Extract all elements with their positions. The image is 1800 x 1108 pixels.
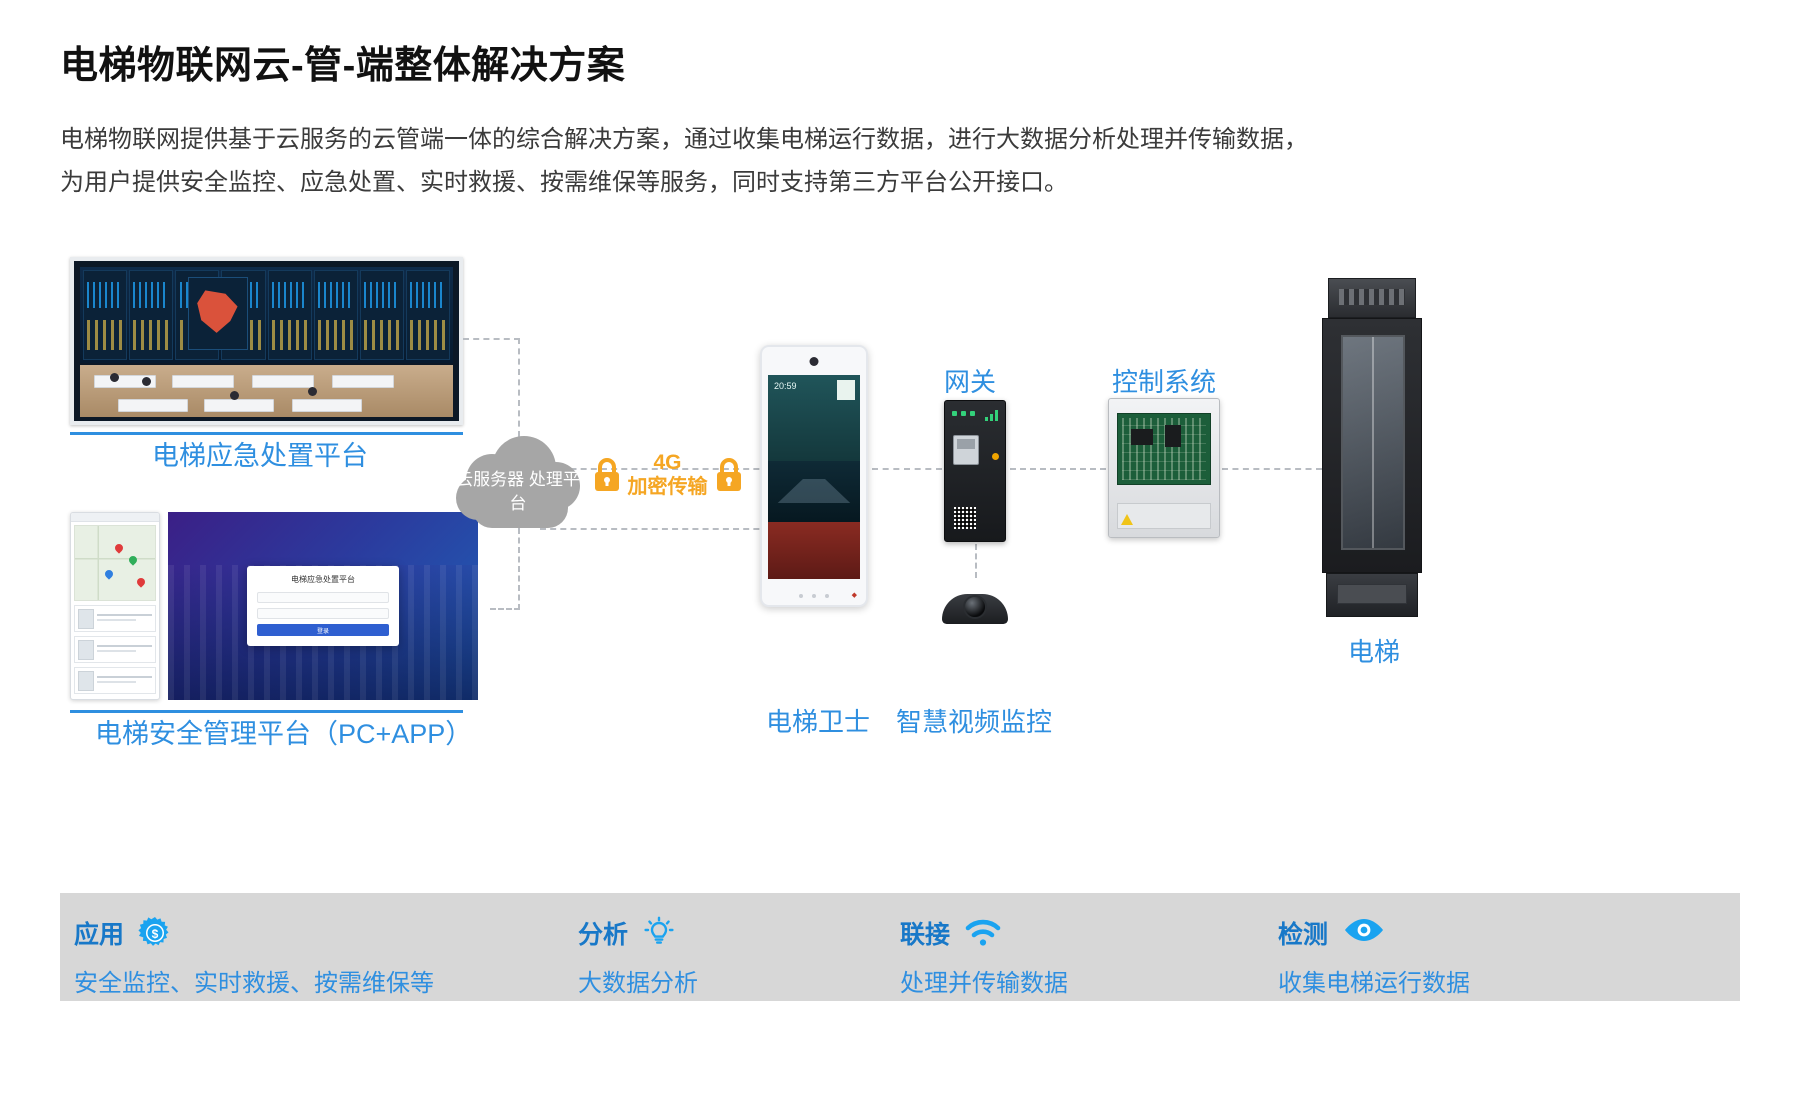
app-device-list: [74, 605, 156, 694]
elevator-guard-device: 20:59 ◆: [760, 345, 868, 607]
password-field[interactable]: [257, 608, 389, 619]
transmission-label: 4G 加密传输: [628, 451, 708, 498]
capability-subtitle: 收集电梯运行数据: [1278, 963, 1470, 998]
capability-bar: 应用 $ 安全监控、实时救援、按需维保等 分析: [60, 893, 1740, 1001]
video-camera-device: [942, 578, 1008, 624]
list-item: [74, 636, 156, 663]
camera-lens: [963, 595, 987, 619]
status-leds: [952, 411, 975, 416]
page-description-line-1: 电梯物联网提供基于云服务的云管端一体的综合解决方案，通过收集电梯运行数据，进行大…: [60, 118, 1750, 161]
eye-icon: [1342, 916, 1386, 950]
connector-guard-to-gateway: [872, 468, 942, 470]
mobile-app-screenshot: [70, 512, 160, 700]
signal-bars-icon: [985, 409, 998, 421]
list-item: [74, 667, 156, 694]
circuit-board: [1117, 413, 1211, 485]
guard-time: 20:59: [774, 381, 797, 391]
elevator-car: [1322, 318, 1422, 573]
lock-icon: [592, 457, 622, 493]
device-label-control: 控制系统: [1112, 362, 1216, 399]
page-description-line-2: 为用户提供安全监控、应急处置、实时救援、按需维保等服务，同时支持第三方平台公开接…: [60, 161, 1750, 204]
page-description: 电梯物联网提供基于云服务的云管端一体的综合解决方案，通过收集电梯运行数据，进行大…: [60, 118, 1750, 204]
capability-connection: 联接 处理并传输数据: [900, 915, 1068, 998]
app-map-view: [74, 525, 156, 601]
device-label-elevator: 电梯: [1348, 632, 1400, 669]
capability-title: 联接: [900, 915, 950, 951]
device-label-gateway: 网关: [944, 362, 996, 399]
capability-title: 应用: [74, 915, 124, 951]
pc-platform-screenshot: 电梯应急处置平台 登录: [168, 512, 478, 700]
capability-title: 检测: [1278, 915, 1328, 951]
cloud-label-line-1: 云服务器: [456, 470, 524, 489]
svg-text:$: $: [152, 927, 159, 941]
connector-gateway-to-control: [1010, 468, 1106, 470]
login-card-title: 电梯应急处置平台: [257, 574, 389, 585]
device-label-camera: 智慧视频监控: [896, 702, 1052, 739]
transmission-tech: 4G: [628, 451, 708, 475]
ethernet-port: [953, 435, 979, 465]
camera-icon: [810, 357, 819, 366]
capability-subtitle: 大数据分析: [578, 963, 698, 998]
capability-analysis: 分析: [578, 915, 698, 998]
device-nameplate: [1117, 503, 1211, 529]
elevator-glass-door: [1341, 335, 1405, 550]
lightbulb-icon: [642, 916, 676, 950]
brand-logo: ◆: [852, 591, 857, 599]
guard-screen: 20:59: [768, 375, 860, 579]
control-room-floor: [80, 365, 453, 417]
elevator-machine-room: [1328, 278, 1416, 318]
control-system-device: [1108, 398, 1220, 538]
power-indicator: [992, 453, 999, 460]
capability-subtitle: 安全监控、实时救援、按需维保等: [74, 963, 434, 998]
connector-gateway-to-camera: [975, 544, 977, 578]
wifi-icon: [964, 916, 998, 950]
cloud-server-node: 云服务器 处理平台: [452, 432, 584, 542]
lock-icon: [714, 457, 744, 493]
gateway-device: [944, 400, 1006, 542]
login-card: 电梯应急处置平台 登录: [247, 566, 399, 646]
page-title: 电梯物联网云-管-端整体解决方案: [60, 34, 625, 89]
money-gear-icon: $: [138, 916, 172, 950]
capability-application: 应用 $ 安全监控、实时救援、按需维保等: [74, 915, 434, 998]
connector-emergency-to-cloud-h: [463, 338, 520, 340]
home-indicator[interactable]: [797, 594, 831, 598]
solution-diagram-page: 电梯物联网云-管-端整体解决方案 电梯物联网提供基于云服务的云管端一体的综合解决…: [0, 0, 1800, 1108]
qr-code: [954, 507, 976, 529]
login-button[interactable]: 登录: [257, 624, 389, 636]
list-item: [74, 605, 156, 632]
username-field[interactable]: [257, 592, 389, 603]
device-label-guard: 电梯卫士: [766, 702, 870, 739]
transmission-desc: 加密传输: [628, 476, 708, 499]
capability-subtitle: 处理并传输数据: [900, 963, 1068, 998]
video-wall: [80, 267, 453, 363]
cloud-label: 云服务器 处理平台: [452, 468, 584, 516]
connector-safety-to-cloud-h: [490, 608, 520, 610]
emergency-platform-image: [70, 257, 463, 425]
elevator-pit: [1326, 573, 1418, 617]
emergency-platform-caption: 电梯应急处置平台: [152, 434, 368, 473]
encrypted-transmission-group: 4G 加密传输: [580, 440, 755, 510]
capability-title: 分析: [578, 915, 628, 951]
elevator-device: [1322, 278, 1422, 618]
china-map-display: [188, 277, 248, 350]
safety-platform-caption: 电梯安全管理平台（PC+APP）: [95, 712, 472, 751]
capability-detection: 检测 收集电梯运行数据: [1278, 915, 1470, 998]
connector-control-to-elevator: [1222, 468, 1322, 470]
